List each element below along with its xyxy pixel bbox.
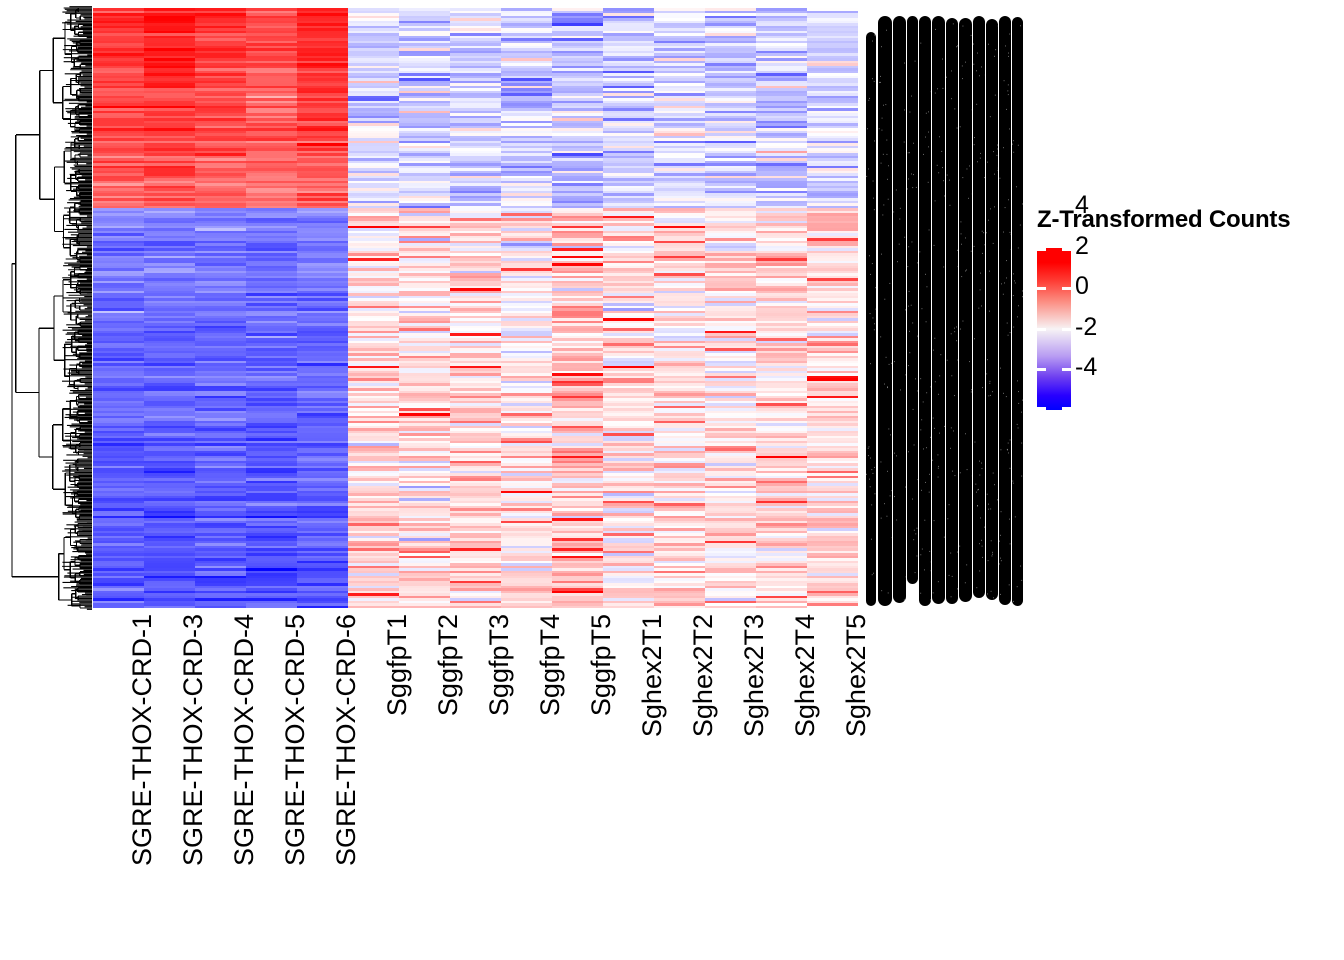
- legend: Z-Transformed Counts 420-2-4: [1035, 206, 1335, 426]
- column-label-text: SGRE-THOX-CRD-5: [282, 614, 309, 866]
- column-label-text: SggfpT5: [588, 614, 615, 716]
- column-label-4: SGRE-THOX-CRD-6: [333, 614, 360, 866]
- legend-colorbar: [1037, 248, 1071, 410]
- column-label-11: Sghex2T2: [690, 614, 717, 737]
- row-labels-overplotted: [864, 6, 1024, 612]
- column-labels: SGRE-THOX-CRD-1SGRE-THOX-CRD-3SGRE-THOX-…: [93, 610, 858, 950]
- column-label-text: SggfpT2: [435, 614, 462, 716]
- column-label-text: Sghex2T3: [741, 614, 768, 737]
- legend-tick-label-3: -2: [1075, 315, 1097, 340]
- column-label-0: SGRE-THOX-CRD-1: [129, 614, 156, 866]
- column-label-text: SGRE-THOX-CRD-1: [129, 614, 156, 866]
- legend-tick-mark: [1062, 328, 1071, 331]
- legend-tick-label-1: 2: [1075, 234, 1089, 259]
- column-label-text: SggfpT1: [384, 614, 411, 716]
- heatmap-matrix[interactable]: [93, 8, 858, 608]
- column-label-9: SggfpT5: [588, 614, 615, 716]
- column-label-text: SGRE-THOX-CRD-4: [231, 614, 258, 866]
- column-label-8: SggfpT4: [537, 614, 564, 716]
- column-label-text: Sghex2T5: [843, 614, 870, 737]
- heatmap-canvas[interactable]: [93, 8, 858, 608]
- row-dendrogram-svg: [10, 6, 92, 610]
- legend-tick-mark: [1037, 328, 1046, 331]
- legend-tick-mark: [1062, 248, 1071, 251]
- column-label-7: SggfpT3: [486, 614, 513, 716]
- column-label-text: Sghex2T2: [690, 614, 717, 737]
- column-label-text: SggfpT4: [537, 614, 564, 716]
- legend-tick-mark: [1037, 248, 1046, 251]
- column-label-text: SggfpT3: [486, 614, 513, 716]
- legend-tick-mark: [1062, 287, 1071, 290]
- column-label-3: SGRE-THOX-CRD-5: [282, 614, 309, 866]
- legend-tick-mark: [1062, 368, 1071, 371]
- row-dendrogram: [10, 6, 92, 610]
- row-labels-svg: [864, 6, 1024, 612]
- legend-tick-mark: [1037, 287, 1046, 290]
- column-label-6: SggfpT2: [435, 614, 462, 716]
- legend-tick-label-4: -4: [1075, 355, 1097, 380]
- legend-tick-label-2: 0: [1075, 274, 1089, 299]
- heatmap-figure: SGRE-THOX-CRD-1SGRE-THOX-CRD-3SGRE-THOX-…: [0, 0, 1344, 960]
- legend-tick-mark: [1037, 368, 1046, 371]
- column-label-text: SGRE-THOX-CRD-3: [180, 614, 207, 866]
- column-label-text: SGRE-THOX-CRD-6: [333, 614, 360, 866]
- column-label-5: SggfpT1: [384, 614, 411, 716]
- legend-tick-label-0: 4: [1075, 193, 1089, 218]
- legend-tick-mark: [1037, 407, 1046, 410]
- column-label-2: SGRE-THOX-CRD-4: [231, 614, 258, 866]
- legend-tick-mark: [1062, 407, 1071, 410]
- column-label-1: SGRE-THOX-CRD-3: [180, 614, 207, 866]
- column-label-13: Sghex2T4: [792, 614, 819, 737]
- column-label-10: Sghex2T1: [639, 614, 666, 737]
- column-label-text: Sghex2T4: [792, 614, 819, 737]
- column-label-14: Sghex2T5: [843, 614, 870, 737]
- column-label-12: Sghex2T3: [741, 614, 768, 737]
- column-label-text: Sghex2T1: [639, 614, 666, 737]
